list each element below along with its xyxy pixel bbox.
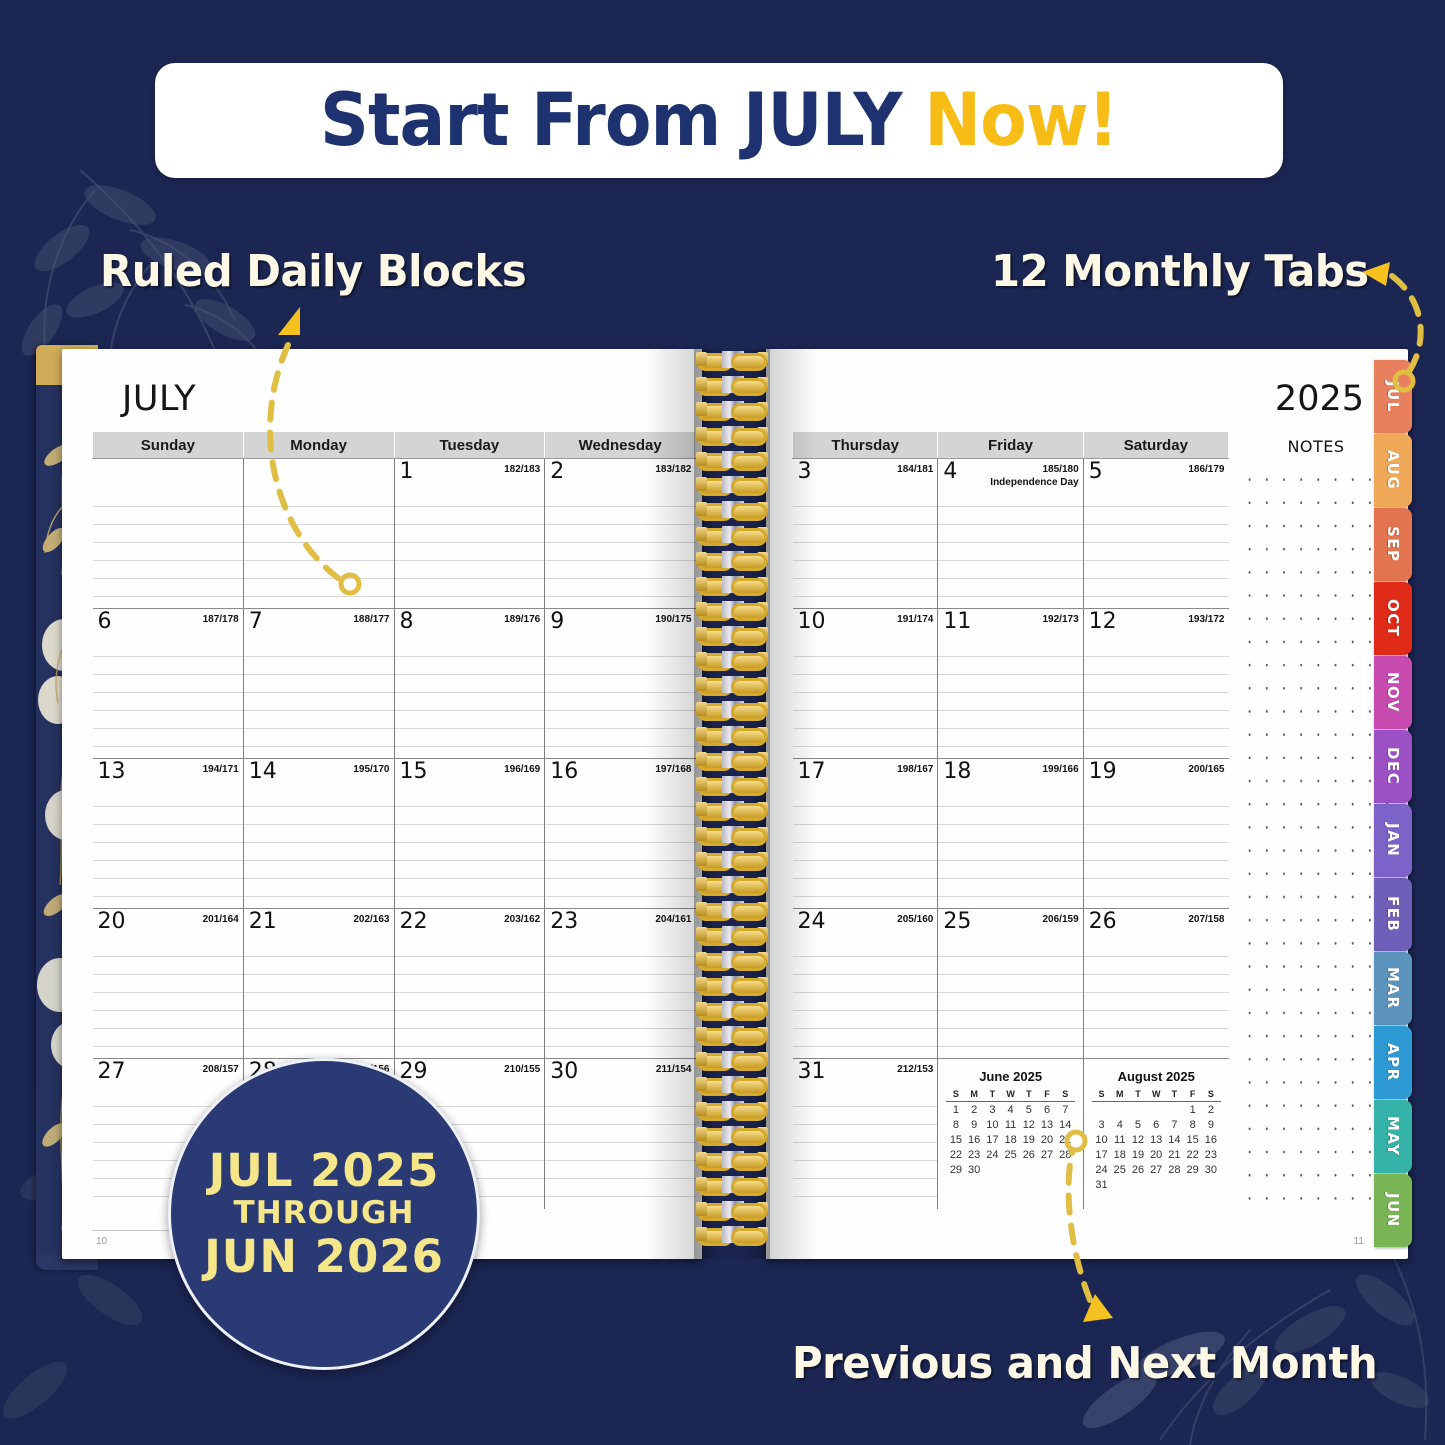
mini-calendar-weekday: F [1184,1088,1202,1102]
mini-calendar-day[interactable]: 29 [1184,1162,1202,1177]
mini-calendar-day[interactable]: 8 [1184,1117,1202,1132]
spiral-clip-left [696,427,707,441]
spiral-core [722,976,744,993]
calendar-day-cell[interactable]: 6187/178 [93,609,244,759]
month-tab-jun[interactable]: JUN [1374,1174,1412,1247]
mini-calendar-weekday: T [1020,1088,1038,1102]
spiral-core [722,826,744,843]
mini-calendar-day[interactable]: 21 [1056,1132,1074,1147]
mini-calendar-day[interactable]: 18 [1001,1132,1019,1147]
spiral-core [722,501,744,518]
calendar-day-cell[interactable]: 10191/174 [793,609,938,759]
spiral-clip-left [696,752,707,766]
calendar-day-counter: 199/166 [1043,764,1079,777]
mini-calendar-day[interactable]: 26 [1020,1147,1038,1162]
badge-line-start: JUL 2025 [209,1147,440,1196]
month-tab-label: DEC [1384,747,1402,785]
month-tab-label: AUG [1384,450,1402,490]
spiral-clip-left [696,502,707,516]
mini-calendar-day[interactable]: 21 [1165,1147,1183,1162]
mini-calendar-day[interactable]: 6 [1038,1102,1056,1118]
mini-calendar-day[interactable] [1165,1102,1183,1118]
calendar-day-number: 11 [943,611,971,633]
calendar-day-number: 3 [798,461,812,483]
spiral-clip-right [757,902,768,916]
spiral-core [722,401,744,418]
year-title: 2025 [792,379,1364,419]
weekday-header-tuesday: Tuesday [394,432,545,459]
calendar-day-cell[interactable]: 20201/164 [93,909,244,1059]
monthly-calendar-grid-right: Thursday Friday Saturday 3184/1814185/18… [792,431,1229,1209]
mini-calendar-day[interactable]: 13 [1147,1132,1165,1147]
spiral-clip-right [757,477,768,491]
mini-calendar-day[interactable]: 25 [1111,1162,1129,1177]
mini-calendar-day[interactable]: 22 [947,1147,965,1162]
mini-calendar-day[interactable] [1111,1102,1129,1118]
spiral-clip-left [696,1052,707,1066]
ruled-lines [938,489,1082,608]
month-tab-label: SEP [1384,526,1402,563]
mini-calendar-day[interactable] [1147,1102,1165,1118]
spiral-coil [696,351,768,368]
calendar-day-counter: 189/176 [504,614,540,627]
spiral-clip-right [757,577,768,591]
calendar-day-number: 10 [798,611,826,633]
mini-calendar-day[interactable]: 5 [1020,1102,1038,1118]
calendar-day-counter: 210/155 [504,1064,540,1077]
spiral-coil [696,826,768,843]
spiral-coil [696,476,768,493]
notes-title: NOTES [1235,431,1397,464]
calendar-day-number: 21 [249,911,277,933]
spiral-clip-right [757,1052,768,1066]
calendar-day-number: 27 [98,1061,126,1083]
spiral-coil [696,976,768,993]
calendar-week-row: 24205/16025206/15926207/158 [793,909,1229,1059]
mini-calendar-weekday: S [947,1088,965,1102]
spiral-coil [696,1076,768,1093]
month-tab-jul[interactable]: JUL [1374,360,1412,433]
calendar-day-counter: 185/180Independence Day [990,464,1078,489]
mini-calendar-day[interactable]: 15 [947,1132,965,1147]
month-tab-label: APR [1384,1043,1402,1082]
mini-calendar-day[interactable]: 10 [1092,1132,1110,1147]
month-tab-may[interactable]: MAY [1374,1100,1412,1173]
mini-calendar-day[interactable]: 9 [965,1117,983,1132]
spiral-coil [696,951,768,968]
weekday-header-row-right: Thursday Friday Saturday [793,432,1229,459]
mini-calendar-row: 15161718192021 [947,1132,1075,1147]
calendar-day-cell[interactable]: 18199/166 [938,759,1083,909]
spiral-clip-left [696,852,707,866]
month-tab-label: MAY [1384,1116,1402,1156]
month-tab-dec[interactable]: DEC [1374,730,1412,803]
mini-calendar-weekday: T [1165,1088,1183,1102]
mini-calendar-title: August 2025 [1092,1069,1221,1084]
calendar-day-cell[interactable]: 15196/169 [394,759,545,909]
mini-calendar-day[interactable]: 11 [1111,1132,1129,1147]
spiral-clip-right [757,602,768,616]
spiral-clip-left [696,1002,707,1016]
mini-calendar-weekday: S [1056,1088,1074,1102]
mini-calendar-day[interactable]: 16 [965,1132,983,1147]
mini-calendar-day[interactable]: 19 [1129,1147,1147,1162]
ruled-lines [93,789,243,908]
calendar-day-cell[interactable]: 5186/179 [1083,459,1228,609]
spiral-clip-left [696,1177,707,1191]
spiral-clip-right [757,1177,768,1191]
ruled-lines [545,489,695,608]
spiral-coil [696,801,768,818]
mini-calendar-day[interactable]: 1 [1184,1102,1202,1118]
spiral-coil [696,1126,768,1143]
spiral-clip-left [696,702,707,716]
spiral-clip-right [757,752,768,766]
spiral-coil [696,676,768,693]
mini-calendar-day[interactable]: 27 [1038,1147,1056,1162]
mini-calendar-day[interactable] [1111,1177,1129,1192]
callout-monthly-tabs: 12 Monthly Tabs [991,246,1369,297]
calendar-day-cell[interactable] [93,459,244,609]
spiral-clip-right [757,527,768,541]
calendar-day-cell[interactable]: 7188/177 [243,609,394,759]
mini-calendar-day[interactable]: 19 [1020,1132,1038,1147]
spiral-coil [696,426,768,443]
calendar-day-cell[interactable]: 12193/172 [1083,609,1228,759]
mini-calendar-day[interactable] [1038,1162,1056,1177]
spiral-core [722,701,744,718]
calendar-day-counter: 205/160 [897,914,933,927]
ruled-lines [395,489,545,608]
mini-calendar-day[interactable]: 16 [1202,1132,1220,1147]
spiral-coil [696,1101,768,1118]
month-tab-mar[interactable]: MAR [1374,952,1412,1025]
mini-calendar-day[interactable]: 15 [1184,1132,1202,1147]
calendar-day-cell[interactable]: 25206/159 [938,909,1083,1059]
page-number-left: 10 [96,1236,107,1247]
spiral-clip-right [757,827,768,841]
mini-calendar-day[interactable]: 23 [965,1147,983,1162]
weekday-header-friday: Friday [938,432,1083,459]
spiral-core [722,1201,744,1218]
spiral-clip-right [757,652,768,666]
calendar-day-cell[interactable]: 23204/161 [545,909,696,1059]
spiral-core [722,1076,744,1093]
spiral-clip-left [696,377,707,391]
ruled-lines [244,489,394,608]
spiral-core [722,951,744,968]
mini-calendar-day[interactable]: 29 [947,1162,965,1177]
ruled-lines [545,789,695,908]
spiral-clip-right [757,777,768,791]
weekday-header-wednesday: Wednesday [545,432,696,459]
mini-calendar-day[interactable]: 30 [1202,1162,1220,1177]
calendar-day-number: 26 [1089,911,1117,933]
spiral-coil [696,1051,768,1068]
mini-calendar-day[interactable]: 14 [1056,1117,1074,1132]
calendar-day-cell[interactable]: 22203/162 [394,909,545,1059]
spiral-coil [696,1151,768,1168]
spiral-core [722,726,744,743]
calendar-day-cell[interactable]: 1182/183 [394,459,545,609]
spiral-core [722,576,744,593]
spiral-clip-left [696,827,707,841]
weekday-header-thursday: Thursday [793,432,938,459]
calendar-day-counter: 190/175 [655,614,691,627]
mini-calendar-day[interactable]: 30 [965,1162,983,1177]
spiral-clip-left [696,527,707,541]
spiral-clip-left [696,402,707,416]
calendar-day-cell[interactable]: 19200/165 [1083,759,1228,909]
calendar-day-number: 9 [550,611,564,633]
mini-calendar-day[interactable]: 31 [1092,1177,1110,1192]
mini-calendar-day[interactable]: 25 [1001,1147,1019,1162]
calendar-day-counter: 182/183 [504,464,540,477]
calendar-day-counter: 212/153 [897,1064,933,1077]
month-tab-label: FEB [1384,896,1402,932]
calendar-day-counter: 203/162 [504,914,540,927]
mini-calendar-day[interactable]: 2 [965,1102,983,1118]
ruled-lines [244,639,394,758]
spiral-core [722,1051,744,1068]
month-tab-nov[interactable]: NOV [1374,656,1412,729]
calendar-day-cell[interactable]: 30211/154 [545,1059,696,1209]
mini-calendar-day[interactable]: 20 [1147,1147,1165,1162]
calendar-day-counter: 186/179 [1188,464,1224,477]
spiral-core [722,526,744,543]
mini-month-calendar[interactable]: June 2025SMTWTFS123456789101112131415161… [938,1059,1084,1209]
mini-calendar-day[interactable]: 17 [983,1132,1001,1147]
calendar-day-cell[interactable]: 26207/158 [1083,909,1228,1059]
mini-calendar-day[interactable] [1202,1177,1220,1192]
month-tab-oct[interactable]: OCT [1374,582,1412,655]
ruled-lines [793,939,938,1058]
spiral-clip-right [757,552,768,566]
spiral-core [722,1151,744,1168]
promo-banner-text: Start From JULY Now! [320,78,1118,163]
calendar-day-cell[interactable]: 8189/176 [394,609,545,759]
month-tab-apr[interactable]: APR [1374,1026,1412,1099]
month-tab-sep[interactable]: SEP [1374,508,1412,581]
spiral-clip-right [757,1102,768,1116]
spiral-clip-left [696,802,707,816]
calendar-day-number: 2 [550,461,564,483]
calendar-day-cell[interactable]: 14195/170 [243,759,394,909]
calendar-day-number: 25 [943,911,971,933]
calendar-day-counter: 194/171 [203,764,239,777]
calendar-day-counter: 196/169 [504,764,540,777]
mini-calendar-day[interactable] [1147,1177,1165,1192]
spiral-coil [696,601,768,618]
mini-calendar-day[interactable]: 22 [1184,1147,1202,1162]
calendar-day-cell[interactable]: 16197/168 [545,759,696,909]
mini-calendar-weekday: W [1147,1088,1165,1102]
mini-calendar-day[interactable]: 4 [1111,1117,1129,1132]
mini-calendar-day[interactable]: 17 [1092,1147,1110,1162]
calendar-day-counter: 184/181 [897,464,933,477]
mini-calendar-day[interactable] [1056,1162,1074,1177]
month-tab-label: JUN [1384,1193,1402,1228]
calendar-day-cell[interactable]: 13194/171 [93,759,244,909]
spiral-clip-right [757,927,768,941]
spiral-clip-left [696,902,707,916]
spiral-core [722,1001,744,1018]
calendar-day-counter: 188/177 [353,614,389,627]
mini-calendar-day[interactable]: 12 [1129,1132,1147,1147]
badge-line-end: JUN 2026 [204,1233,444,1282]
mini-calendar-day[interactable]: 28 [1165,1162,1183,1177]
mini-calendar-day[interactable]: 26 [1129,1162,1147,1177]
spiral-clip-left [696,877,707,891]
calendar-day-cell[interactable]: 21202/163 [243,909,394,1059]
spiral-coil [696,776,768,793]
mini-calendar-day[interactable] [1129,1102,1147,1118]
spiral-core [722,801,744,818]
mini-calendar-day[interactable]: 3 [983,1102,1001,1118]
mini-calendar-day[interactable]: 13 [1038,1117,1056,1132]
calendar-day-number: 5 [1089,461,1103,483]
mini-calendar-day[interactable]: 14 [1165,1132,1183,1147]
mini-calendar-day[interactable]: 1 [947,1102,965,1118]
month-tab-feb[interactable]: FEB [1374,878,1412,951]
mini-calendar-day[interactable]: 9 [1202,1117,1220,1132]
calendar-day-number: 22 [400,911,428,933]
calendar-day-cell[interactable]: 17198/167 [793,759,938,909]
spiral-core [722,926,744,943]
mini-calendar-weekday: S [1202,1088,1220,1102]
spiral-core [722,1226,744,1243]
spiral-coil [696,901,768,918]
mini-calendar-day[interactable]: 8 [947,1117,965,1132]
callout-ruled-daily-blocks: Ruled Daily Blocks [100,246,526,297]
calendar-day-number: 31 [798,1061,826,1083]
mini-calendar-day[interactable]: 7 [1056,1102,1074,1118]
mini-calendar-weekday: F [1038,1088,1056,1102]
promo-banner: Start From JULY Now! [155,63,1283,178]
notes-section: NOTES [1229,431,1397,1216]
mini-calendar-day[interactable] [1092,1102,1110,1118]
mini-calendar-day[interactable]: 3 [1092,1117,1110,1132]
spiral-coil [696,501,768,518]
calendar-day-number: 12 [1089,611,1117,633]
mini-calendar-day[interactable] [1001,1162,1019,1177]
spiral-clip-right [757,402,768,416]
mini-month-calendar[interactable]: August 2025SMTWTFS1234567891011121314151… [1084,1059,1229,1209]
calendar-day-number: 4 [943,461,957,483]
mini-calendar-day[interactable] [983,1162,1001,1177]
spiral-core [722,851,744,868]
calendar-day-cell[interactable] [243,459,394,609]
mini-calendar-day[interactable]: 6 [1147,1117,1165,1132]
calendar-day-cell[interactable]: 9190/175 [545,609,696,759]
spiral-clip-left [696,1027,707,1041]
calendar-day-counter: 211/154 [656,1064,692,1077]
mini-calendar-day[interactable] [1165,1177,1183,1192]
mini-calendar-day[interactable]: 5 [1129,1117,1147,1132]
mini-calendar-row: 10111213141516 [1092,1132,1220,1147]
badge-line-through: THROUGH [234,1197,415,1230]
calendar-day-cell[interactable]: 11192/173 [938,609,1083,759]
month-tab-aug[interactable]: AUG [1374,434,1412,507]
mini-calendar-day[interactable]: 23 [1202,1147,1220,1162]
spiral-clip-left [696,777,707,791]
spiral-core [722,1176,744,1193]
mini-calendar-day[interactable]: 27 [1147,1162,1165,1177]
callout-previous-next-month: Previous and Next Month [792,1338,1377,1389]
calendar-day-cell[interactable]: 3184/181 [793,459,938,609]
mini-calendar-day[interactable]: 12 [1020,1117,1038,1132]
spiral-clip-left [696,452,707,466]
mini-calendar-day[interactable]: 20 [1038,1132,1056,1147]
spiral-core [722,876,744,893]
mini-calendar-day[interactable] [1184,1177,1202,1192]
weekday-header-sunday: Sunday [93,432,244,459]
mini-calendar-day[interactable]: 24 [983,1147,1001,1162]
calendar-body-right: 3184/1814185/180Independence Day5186/179… [793,459,1229,1209]
spiral-coil [696,376,768,393]
spiral-binding [694,345,770,1270]
calendar-day-cell[interactable]: 2183/182 [545,459,696,609]
mini-calendar-weekday: W [1001,1088,1019,1102]
calendar-day-cell[interactable]: 4185/180Independence Day [938,459,1083,609]
calendar-day-counter: 207/158 [1188,914,1224,927]
spiral-coil [696,651,768,668]
mini-calendar-day[interactable]: 7 [1165,1117,1183,1132]
spiral-clip-left [696,727,707,741]
calendar-week-row: 31212/153June 2025SMTWTFS123456789101112… [793,1059,1229,1209]
promo-banner-primary: Start From JULY [320,78,902,163]
mini-calendar-row: 22232425262728 [947,1147,1075,1162]
mini-calendar-day[interactable]: 18 [1111,1147,1129,1162]
mini-calendar-weekday: T [1129,1088,1147,1102]
spiral-clip-left [696,1102,707,1116]
calendar-week-row: 17198/16718199/16619200/165 [793,759,1229,909]
mini-calendar-day[interactable]: 24 [1092,1162,1110,1177]
mini-calendars-cell: June 2025SMTWTFS123456789101112131415161… [938,1059,1229,1209]
month-tab-jan[interactable]: JAN [1374,804,1412,877]
ruled-lines [1084,789,1229,908]
mini-calendar-day[interactable]: 2 [1202,1102,1220,1118]
mini-calendar-day[interactable]: 28 [1056,1147,1074,1162]
mini-calendar-day[interactable]: 11 [1001,1117,1019,1132]
calendar-day-number: 30 [550,1061,578,1083]
spiral-clip-left [696,552,707,566]
spiral-clip-right [757,1027,768,1041]
calendar-day-cell[interactable]: 31212/153 [793,1059,938,1209]
notes-dot-grid[interactable] [1235,464,1397,1216]
calendar-day-number: 8 [400,611,414,633]
spiral-coil [696,926,768,943]
mini-calendar-weekday: T [983,1088,1001,1102]
mini-calendar-day[interactable] [1020,1162,1038,1177]
spiral-core [722,376,744,393]
mini-calendar-row: 31 [1092,1177,1220,1192]
spiral-core [722,1126,744,1143]
spiral-clip-right [757,977,768,991]
month-tab-label: JUL [1384,381,1402,413]
spiral-clip-right [757,377,768,391]
calendar-day-cell[interactable]: 24205/160 [793,909,938,1059]
mini-calendar-day[interactable]: 10 [983,1117,1001,1132]
calendar-day-counter: 192/173 [1043,614,1079,627]
calendar-day-number: 19 [1089,761,1117,783]
mini-calendar-day[interactable]: 4 [1001,1102,1019,1118]
spiral-core [722,751,744,768]
mini-calendar-day[interactable] [1129,1177,1147,1192]
mini-calendar-row: 1234567 [947,1102,1075,1118]
spiral-clip-right [757,1127,768,1141]
spiral-clip-right [757,852,768,866]
